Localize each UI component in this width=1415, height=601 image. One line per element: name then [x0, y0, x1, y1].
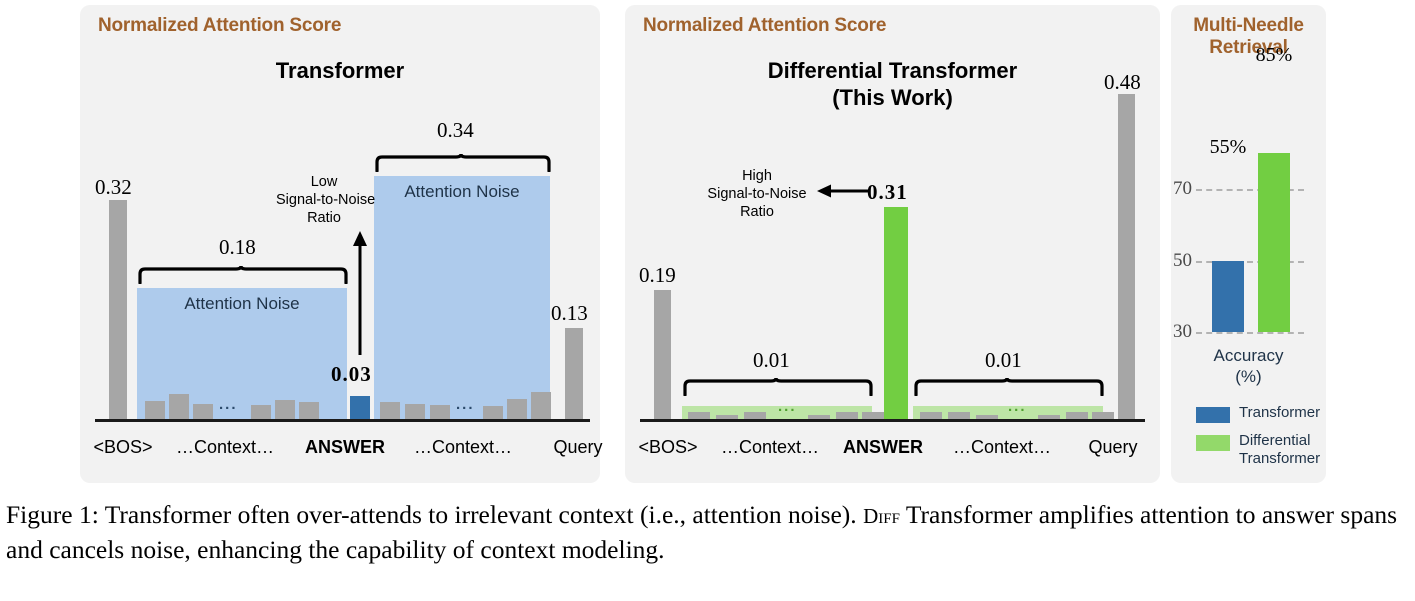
x-axis-line: [95, 419, 590, 422]
bar-bos: [109, 200, 127, 419]
caption-prefix: Figure 1: Transformer often over-attends…: [6, 500, 863, 529]
needle-axis-caption: Accuracy (%): [1171, 345, 1326, 387]
bar-context-right-3: [430, 405, 450, 419]
tick-label-context-left: …Context…: [160, 437, 290, 458]
brace-noise-left: [137, 266, 349, 284]
attention-noise-label-left: Attention Noise: [137, 294, 347, 314]
bar-context-right-5-diff: [1066, 412, 1088, 419]
ellipsis-context-left-diff: ...: [778, 398, 797, 415]
tick-label-context2-diff: …Context…: [937, 437, 1067, 458]
figure-caption: Figure 1: Transformer often over-attends…: [6, 498, 1410, 567]
snr-annotation-high: High Signal-to-Noise Ratio: [698, 167, 816, 221]
needle-axis-caption-line1: Accuracy: [1171, 345, 1326, 366]
needle-bar-label-transformer: 55%: [1193, 136, 1263, 159]
needle-bar-transformer: [1212, 261, 1244, 332]
tick-label-query-left: Query: [528, 437, 628, 458]
bar-context-left-3-diff: [744, 412, 766, 419]
ellipsis-context-right: ...: [456, 396, 475, 413]
legend-label-differential: Differential Transformer: [1239, 432, 1320, 468]
value-label-query: 0.13: [551, 301, 588, 326]
bar-context-left-1: [145, 401, 165, 419]
legend-item-transformer: Transformer: [1196, 404, 1320, 423]
legend-item-differential: Differential Transformer: [1196, 432, 1320, 468]
snr-line-2: Signal-to-Noise: [276, 191, 372, 209]
bar-context-right-1-diff: [920, 412, 942, 419]
panel-header-multi-needle-line1: Multi-Needle: [1171, 15, 1326, 37]
chart-transformer-attention: Attention Noise Attention Noise ... ... …: [95, 100, 590, 422]
tick-label-bos-left: <BOS>: [73, 437, 173, 458]
tick-label-bos-diff: <BOS>: [618, 437, 718, 458]
value-label-query-diff: 0.48: [1104, 70, 1141, 95]
bar-context-right-4: [483, 406, 503, 419]
bar-context-right-4-diff: [1038, 415, 1060, 419]
bar-context-left-6: [299, 402, 319, 419]
attention-noise-box-right: Attention Noise: [374, 176, 550, 419]
value-label-noise-left: 0.18: [219, 235, 256, 260]
chart-differential-attention: ... ... 0.19 0.31 0.48 0.01 0.01: [640, 100, 1145, 422]
bar-context-left-4: [251, 405, 271, 419]
bar-context-right-5: [507, 399, 527, 419]
legend-swatch-transformer: [1196, 407, 1230, 423]
arrow-up-icon: [351, 230, 369, 360]
value-label-noise-right: 0.34: [437, 118, 474, 143]
panel-title-differential-line1: Differential Transformer: [625, 57, 1160, 84]
snr-line-1-diff: High: [698, 167, 816, 185]
figure-1: Normalized Attention Score Transformer A…: [0, 0, 1415, 601]
caption-diff-smallcaps: Diff: [863, 504, 900, 528]
brace-noise-right: [374, 154, 552, 172]
tick-label-answer-left: ANSWER: [290, 437, 400, 458]
snr-line-3-diff: Ratio: [698, 203, 816, 221]
tick-label-context-diff: …Context…: [705, 437, 835, 458]
bar-context-right-2-diff: [948, 412, 970, 419]
bar-answer-diff: [884, 207, 908, 419]
arrow-left-icon: [816, 182, 868, 205]
value-label-bos-diff: 0.19: [639, 263, 676, 288]
snr-annotation-low: Low Signal-to-Noise Ratio: [276, 173, 372, 227]
panel-header-normalized-attention-score-diff: Normalized Attention Score: [643, 15, 886, 37]
legend-label-transformer: Transformer: [1239, 404, 1320, 422]
brace-noise-left-diff: [682, 378, 874, 396]
bar-answer: [350, 396, 370, 419]
needle-bar-label-differential: 85%: [1239, 44, 1309, 67]
ellipsis-context-left: ...: [219, 396, 238, 413]
bar-query: [565, 328, 583, 419]
legend-swatch-differential: [1196, 435, 1230, 451]
needle-bar-differential: [1258, 153, 1290, 332]
panel-header-normalized-attention-score: Normalized Attention Score: [98, 15, 341, 37]
bar-context-left-1-diff: [688, 412, 710, 419]
bar-context-left-5-diff: [836, 412, 858, 419]
tick-label-context2-left: …Context…: [398, 437, 528, 458]
bar-context-right-6-diff: [1092, 412, 1114, 419]
attention-noise-label-right: Attention Noise: [374, 182, 550, 202]
value-label-answer: 0.03: [331, 362, 372, 387]
bar-context-left-2: [169, 394, 189, 419]
bar-context-right-3-diff: [976, 415, 998, 419]
gridline-30: [1196, 332, 1304, 334]
ytick-label-70: 70: [1173, 178, 1192, 200]
tick-label-query-diff: Query: [1063, 437, 1163, 458]
value-label-answer-diff: 0.31: [867, 180, 908, 205]
snr-line-3: Ratio: [276, 209, 372, 227]
value-label-bos: 0.32: [95, 175, 132, 200]
bar-bos-diff: [654, 290, 671, 419]
snr-line-2-diff: Signal-to-Noise: [698, 185, 816, 203]
x-axis-line-diff: [640, 419, 1145, 422]
value-label-noise-right-diff: 0.01: [985, 348, 1022, 373]
bar-context-left-6-diff: [862, 412, 884, 419]
value-label-noise-left-diff: 0.01: [753, 348, 790, 373]
bar-context-left-4-diff: [808, 415, 830, 419]
ytick-label-50: 50: [1173, 250, 1192, 272]
brace-noise-right-diff: [913, 378, 1105, 396]
tick-label-answer-diff: ANSWER: [828, 437, 938, 458]
bar-query-diff: [1118, 94, 1135, 419]
bar-context-right-1: [380, 402, 400, 419]
ellipsis-context-right-diff: ...: [1008, 398, 1027, 415]
ytick-label-30: 30: [1173, 321, 1192, 343]
chart-multi-needle-retrieval: 70 50 30 55% 85%: [1196, 100, 1304, 332]
needle-legend: Transformer Differential Transformer: [1196, 404, 1316, 474]
snr-line-1: Low: [276, 173, 372, 191]
bar-context-right-6: [531, 392, 551, 419]
bar-context-left-2-diff: [716, 415, 738, 419]
bar-context-left-5: [275, 400, 295, 419]
bar-context-right-2: [405, 404, 425, 419]
panel-title-transformer: Transformer: [80, 57, 600, 84]
bar-context-left-3: [193, 404, 213, 419]
needle-axis-caption-line2: (%): [1171, 366, 1326, 387]
